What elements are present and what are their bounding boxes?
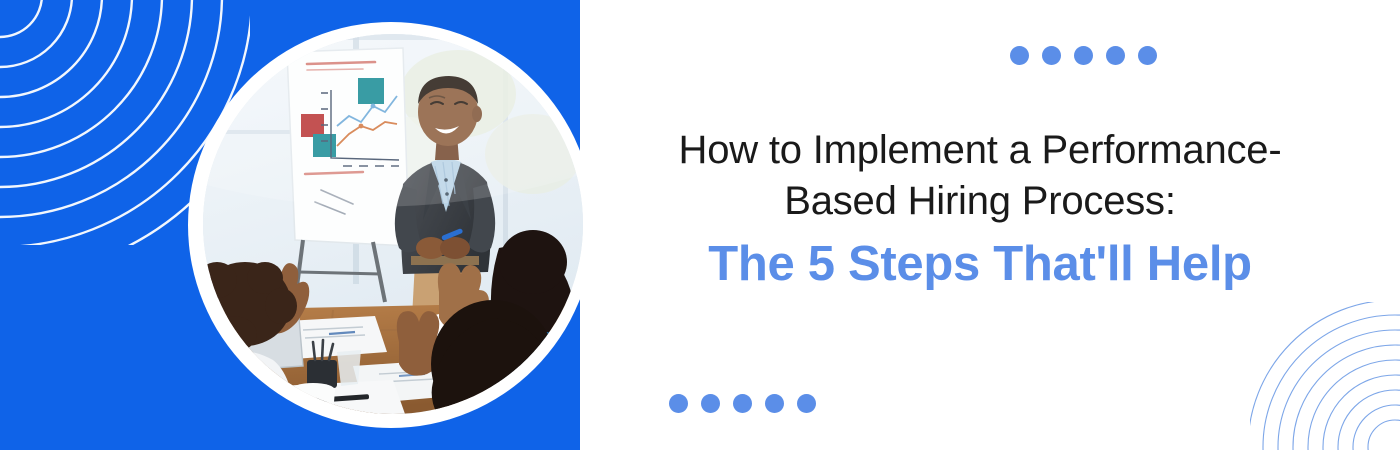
decorative-dot [701, 394, 720, 413]
decorative-dot [1106, 46, 1125, 65]
decorative-dot [1138, 46, 1157, 65]
dot-row-bottom [669, 394, 816, 413]
photo-circle [203, 34, 583, 414]
decorative-dot [733, 394, 752, 413]
decorative-dot [797, 394, 816, 413]
decorative-dot [1042, 46, 1061, 65]
headline-accent: The 5 Steps That'll Help [620, 232, 1340, 296]
headline-line-2: Based Hiring Process: [620, 176, 1340, 227]
hero-banner: How to Implement a Performance- Based Hi… [0, 0, 1400, 450]
decorative-dot [1074, 46, 1093, 65]
headline-block: How to Implement a Performance- Based Hi… [620, 125, 1340, 296]
headline-line-1: How to Implement a Performance- [620, 125, 1340, 176]
decorative-dot [1010, 46, 1029, 65]
decorative-dot [765, 394, 784, 413]
meeting-photo-illustration [203, 34, 583, 414]
dot-row-top [1010, 46, 1157, 65]
decorative-dot [669, 394, 688, 413]
concentric-rings-light-blue-icon [1250, 302, 1400, 450]
